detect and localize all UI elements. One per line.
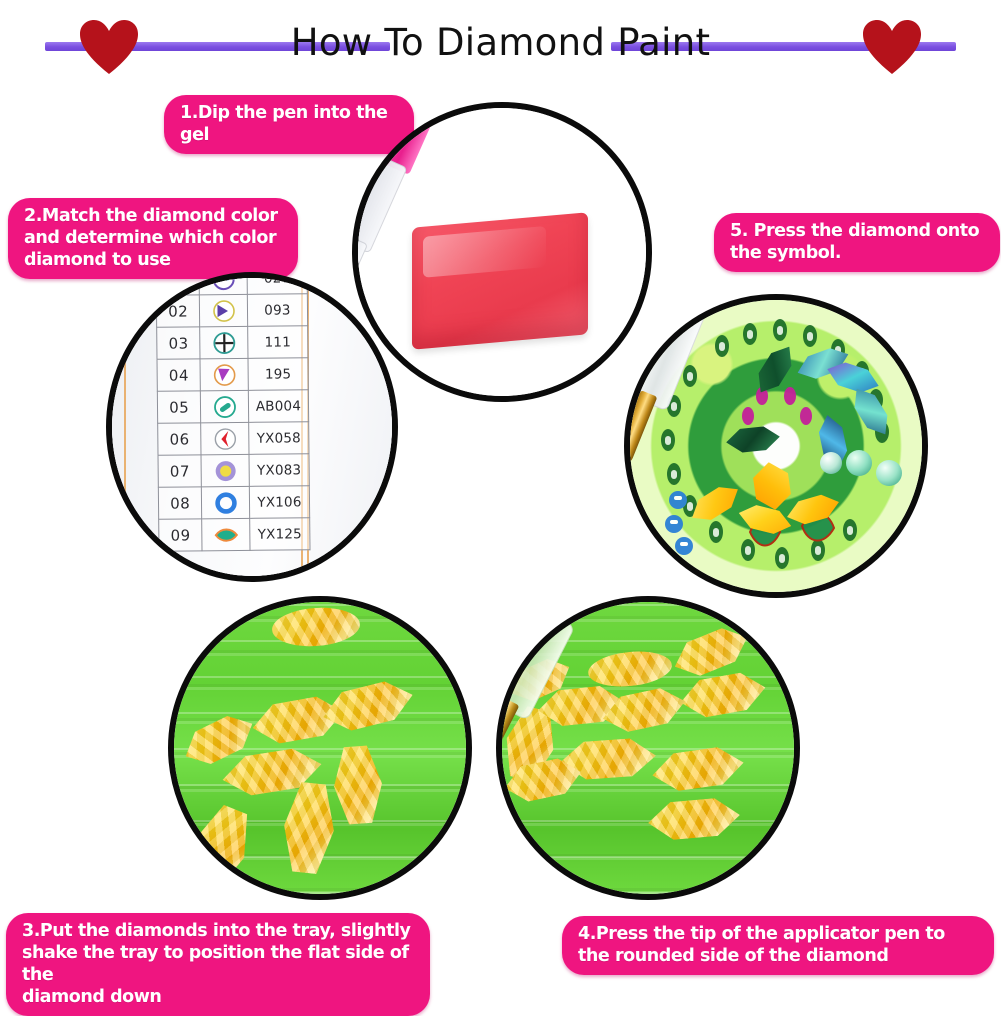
table-row: 03 111 bbox=[157, 326, 308, 360]
filled-dot-icon bbox=[201, 454, 249, 486]
triangle-wedge-icon bbox=[200, 358, 248, 390]
step-5-label-line-2: the symbol. bbox=[730, 242, 984, 264]
legend-no bbox=[156, 278, 200, 295]
photo-pen-in-gel bbox=[352, 102, 652, 402]
table-row: 06 YX058 bbox=[158, 422, 309, 456]
legend-code: YX058 bbox=[249, 422, 309, 455]
chart-margin-line bbox=[124, 278, 126, 576]
step-4-label-line-2: the rounded side of the diamond bbox=[578, 945, 978, 967]
legend-code: AB004 bbox=[248, 390, 308, 423]
step-3-label-line-1: 3.Put the diamonds into the tray, slight… bbox=[22, 920, 414, 942]
legend-no: 07 bbox=[158, 455, 202, 487]
gem-round bbox=[820, 452, 842, 474]
step-4-label: 4.Press the tip of the applicator pen to… bbox=[562, 916, 994, 975]
pen-body bbox=[358, 151, 408, 254]
leaf-marquise-icon bbox=[202, 518, 250, 550]
plus-cross-icon bbox=[200, 326, 248, 358]
step-2-label: 2.Match the diamond color and determine … bbox=[8, 198, 298, 279]
table-row: 09 YX125 bbox=[159, 518, 310, 552]
photo-color-chart: 020 02 093 03 111 04 bbox=[106, 272, 398, 582]
step-5-label: 5. Press the diamond onto the symbol. bbox=[714, 213, 1000, 272]
gel-pad bbox=[412, 212, 588, 349]
how-to-diamond-paint-infographic: How To Diamond Paint 1.Dip the pen into … bbox=[0, 0, 1001, 1001]
step-5-label-line-1: 5. Press the diamond onto bbox=[730, 220, 984, 242]
legend-no: 06 bbox=[158, 423, 202, 455]
legend-code: 093 bbox=[247, 294, 307, 327]
table-row: 07 YX083 bbox=[158, 454, 309, 488]
slash-capsule-icon bbox=[201, 390, 249, 422]
gem-round bbox=[876, 460, 902, 486]
legend-code: YX106 bbox=[249, 486, 309, 519]
diamond-color-legend: 020 02 093 03 111 04 bbox=[155, 278, 310, 552]
table-row: 05 AB004 bbox=[157, 390, 308, 424]
legend-no: 09 bbox=[159, 519, 203, 551]
header: How To Diamond Paint bbox=[0, 0, 1001, 80]
legend-no: 05 bbox=[157, 391, 201, 423]
photo-press-onto-symbol bbox=[624, 294, 928, 598]
photo-pen-picks-diamond bbox=[496, 596, 800, 900]
legend-code: YX125 bbox=[250, 518, 310, 551]
step-2-label-line-3: diamond to use bbox=[24, 249, 282, 271]
left-arrow-icon bbox=[201, 422, 249, 454]
legend-no: 04 bbox=[157, 359, 201, 391]
step-3-label-line-3: diamond down bbox=[22, 986, 414, 1008]
step-2-label-line-2: and determine which color bbox=[24, 227, 282, 249]
photo-diamonds-in-tray bbox=[168, 596, 472, 900]
double-dot-circle-icon bbox=[199, 278, 247, 295]
legend-no: 08 bbox=[158, 487, 202, 519]
gem-round bbox=[846, 450, 872, 476]
legend-no: 02 bbox=[156, 295, 200, 327]
legend-code: 111 bbox=[248, 326, 308, 359]
table-row: 08 YX106 bbox=[158, 486, 309, 520]
table-row: 02 093 bbox=[156, 294, 307, 328]
page-title: How To Diamond Paint bbox=[0, 20, 1001, 65]
legend-code: YX083 bbox=[249, 454, 309, 487]
triangle-wedge-icon bbox=[200, 294, 248, 326]
open-ring-icon bbox=[202, 486, 250, 518]
legend-code: 020 bbox=[247, 278, 307, 294]
step-3-label-line-2: shake the tray to position the flat side… bbox=[22, 942, 414, 986]
legend-no: 03 bbox=[157, 327, 201, 359]
table-row: 020 bbox=[156, 278, 307, 295]
table-row: 04 195 bbox=[157, 358, 308, 392]
step-2-label-line-1: 2.Match the diamond color bbox=[24, 205, 282, 227]
legend-code: 195 bbox=[248, 358, 308, 391]
step-4-label-line-1: 4.Press the tip of the applicator pen to bbox=[578, 923, 978, 945]
